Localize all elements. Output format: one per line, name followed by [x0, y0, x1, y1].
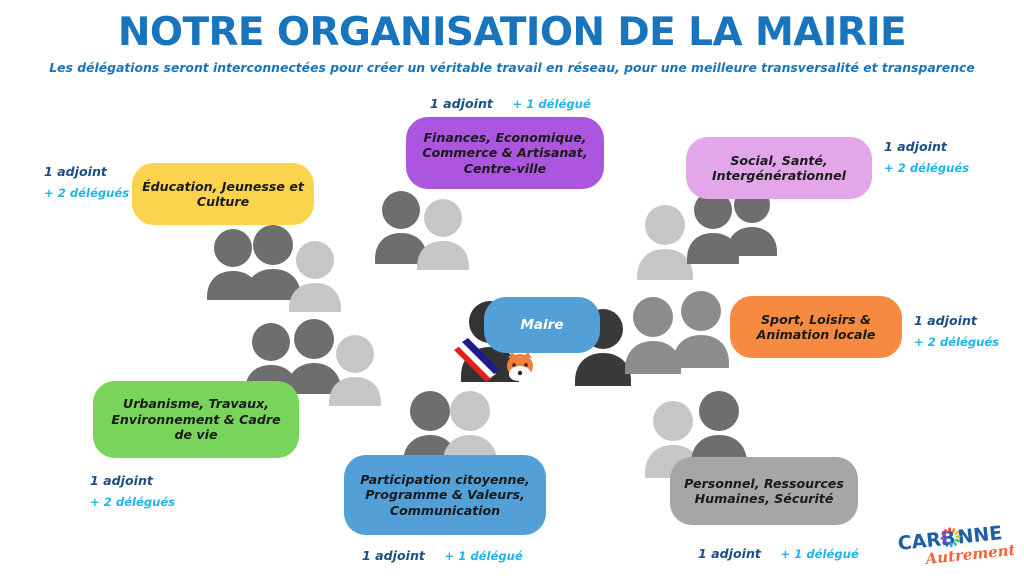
- adjoint-count-urbanisme: 1 adjoint: [90, 473, 175, 488]
- delegation-box-personnel[interactable]: Personnel, Ressources Humaines, Sécurité: [670, 457, 858, 525]
- adjoint-count-social: 1 adjoint: [884, 139, 969, 154]
- delegation-box-education[interactable]: Éducation, Jeunesse et Culture: [132, 163, 314, 225]
- person-icon-delegue: [668, 290, 734, 368]
- count-label-sport: 1 adjoint + 2 délégués: [914, 313, 999, 349]
- page-title: NOTRE ORGANISATION DE LA MAIRIE: [0, 10, 1024, 55]
- count-label-personnel: 1 adjoint + 1 délégué: [698, 543, 859, 562]
- delegation-box-finances[interactable]: Finances, Economique, Commerce & Artisan…: [406, 117, 604, 189]
- adjoint-count-education: 1 adjoint: [44, 164, 129, 179]
- delegue-count-urbanisme: + 2 délégués: [90, 495, 175, 509]
- count-label-education: 1 adjoint + 2 délégués: [44, 164, 129, 200]
- delegue-count-sport: + 2 délégués: [914, 335, 999, 349]
- organisation-chart: NOTRE ORGANISATION DE LA MAIRIE Les délé…: [0, 0, 1024, 576]
- carbonne-autrement-logo: CARB NNE: [896, 522, 1014, 568]
- delegation-box-sport[interactable]: Sport, Loisirs & Animation locale: [730, 296, 902, 358]
- page-subtitle: Les délégations seront interconnectées p…: [0, 60, 1024, 75]
- count-label-participation: 1 adjoint + 1 délégué: [362, 545, 523, 564]
- delegue-count-personnel: + 1 délégué: [781, 547, 859, 561]
- person-icon-delegue: [412, 198, 474, 270]
- person-icon-delegue: [324, 334, 386, 406]
- delegue-count-social: + 2 délégués: [884, 161, 969, 175]
- delegue-count-education: + 2 délégués: [44, 186, 129, 200]
- maire-box[interactable]: Maire: [484, 297, 600, 353]
- count-label-social: 1 adjoint + 2 délégués: [884, 139, 969, 175]
- count-label-finances: 1 adjoint + 1 délégué: [430, 93, 591, 112]
- delegation-box-participation[interactable]: Participation citoyenne, Programme & Val…: [344, 455, 546, 535]
- adjoint-count-sport: 1 adjoint: [914, 313, 999, 328]
- count-label-urbanisme: 1 adjoint + 2 délégués: [90, 473, 175, 509]
- adjoint-count-personnel: 1 adjoint: [698, 546, 761, 561]
- adjoint-count-finances: 1 adjoint: [430, 96, 493, 111]
- adjoint-count-participation: 1 adjoint: [362, 548, 425, 563]
- delegation-box-urbanisme[interactable]: Urbanisme, Travaux, Environnement & Cadr…: [93, 381, 299, 458]
- delegue-count-participation: + 1 délégué: [445, 549, 523, 563]
- person-icon-delegue: [284, 240, 346, 312]
- delegation-box-social[interactable]: Social, Santé, Intergénérationnel: [686, 137, 872, 199]
- delegue-count-finances: + 1 délégué: [513, 97, 591, 111]
